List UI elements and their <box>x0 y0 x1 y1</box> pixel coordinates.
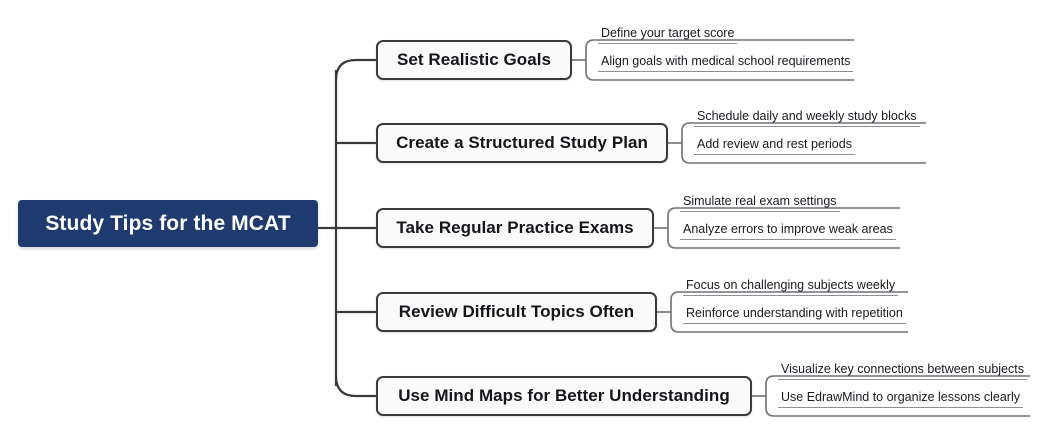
subitem-1-1[interactable]: Define your target score <box>598 26 737 44</box>
branch-node-4-label: Review Difficult Topics Often <box>399 302 634 322</box>
subitem-2-2-label: Add review and rest periods <box>694 137 855 154</box>
branch-node-2-label: Create a Structured Study Plan <box>396 133 648 153</box>
subitem-4-1[interactable]: Focus on challenging subjects weekly <box>683 278 898 296</box>
branch-node-1-label: Set Realistic Goals <box>397 50 551 70</box>
branch-node-5-label: Use Mind Maps for Better Understanding <box>398 386 730 406</box>
subitem-3-2-rule <box>680 239 896 240</box>
subitem-5-1[interactable]: Visualize key connections between subjec… <box>778 362 1027 380</box>
subitem-4-2-rule <box>683 323 906 324</box>
subitem-4-2[interactable]: Reinforce understanding with repetition <box>683 306 906 324</box>
connector-branch-5 <box>336 376 376 396</box>
subitem-1-1-rule <box>598 43 737 44</box>
connector-branch-1 <box>336 60 376 80</box>
subitem-3-1-label: Simulate real exam settings <box>680 194 840 211</box>
subitem-5-2[interactable]: Use EdrawMind to organize lessons clearl… <box>778 390 1023 408</box>
subitem-2-1-rule <box>694 126 920 127</box>
branch-node-3-label: Take Regular Practice Exams <box>396 218 633 238</box>
subitem-2-2-rule <box>694 154 855 155</box>
subitem-2-1-label: Schedule daily and weekly study blocks <box>694 109 920 126</box>
subitem-1-2[interactable]: Align goals with medical school requirem… <box>598 54 853 72</box>
subitem-5-1-rule <box>778 379 1027 380</box>
subitem-5-2-label: Use EdrawMind to organize lessons clearl… <box>778 390 1023 407</box>
subitem-3-1[interactable]: Simulate real exam settings <box>680 194 840 212</box>
mind-map-canvas: Study Tips for the MCAT Set Realistic Go… <box>0 0 1050 442</box>
branch-node-3[interactable]: Take Regular Practice Exams <box>376 208 654 248</box>
subitem-4-1-label: Focus on challenging subjects weekly <box>683 278 898 295</box>
subitem-5-1-label: Visualize key connections between subjec… <box>778 362 1027 379</box>
subitem-1-1-label: Define your target score <box>598 26 737 43</box>
subitem-4-1-rule <box>683 295 898 296</box>
branch-node-5[interactable]: Use Mind Maps for Better Understanding <box>376 376 752 416</box>
subitem-3-2-label: Analyze errors to improve weak areas <box>680 222 896 239</box>
subitem-3-2[interactable]: Analyze errors to improve weak areas <box>680 222 896 240</box>
subitem-1-2-label: Align goals with medical school requirem… <box>598 54 853 71</box>
subitem-1-2-rule <box>598 71 853 72</box>
root-node-label: Study Tips for the MCAT <box>45 212 290 236</box>
root-node[interactable]: Study Tips for the MCAT <box>18 200 318 247</box>
branch-node-2[interactable]: Create a Structured Study Plan <box>376 123 668 163</box>
subitem-2-1[interactable]: Schedule daily and weekly study blocks <box>694 109 920 127</box>
branch-node-1[interactable]: Set Realistic Goals <box>376 40 572 80</box>
subitem-5-2-rule <box>778 407 1023 408</box>
subitem-2-2[interactable]: Add review and rest periods <box>694 137 855 155</box>
subitem-4-2-label: Reinforce understanding with repetition <box>683 306 906 323</box>
subitem-3-1-rule <box>680 211 840 212</box>
branch-node-4[interactable]: Review Difficult Topics Often <box>376 292 657 332</box>
